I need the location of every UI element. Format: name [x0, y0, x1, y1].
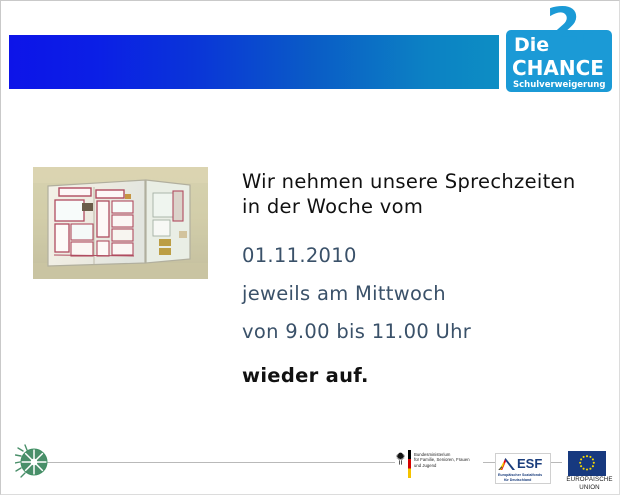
spacer	[242, 219, 612, 237]
esf-acronym: ESF	[517, 456, 542, 471]
notice-board-photo-graphic	[33, 167, 208, 279]
spacer	[242, 351, 612, 363]
brand-logo-word-chance: CHANCE	[512, 58, 604, 78]
eu-flag	[568, 451, 606, 476]
green-sun-logo	[15, 444, 51, 480]
brand-logo-subtitle: Schulverweigerung	[513, 81, 605, 90]
time-line: von 9.00 bis 11.00 Uhr	[242, 313, 612, 351]
presentation-slide: 2. Die CHANCE Schulverweigerung	[0, 0, 620, 495]
ministry-name-text: Bundesministerium für Familie, Senioren,…	[414, 452, 470, 468]
headline-line-1: Wir nehmen unsere Sprechzeiten	[242, 169, 612, 194]
green-sun-logo-graphic	[15, 444, 51, 480]
eu-flag-stars-icon	[568, 451, 606, 476]
date-line: 01.11.2010	[242, 237, 612, 275]
slide-text-block: Wir nehmen unsere Sprechzeiten in der Wo…	[242, 169, 612, 389]
brand-logo-die-zweite-chance: 2. Die CHANCE Schulverweigerung	[499, 13, 615, 97]
ministry-name-line-3: und Jugend	[414, 463, 470, 468]
weekday-line: jeweils am Mittwoch	[242, 275, 612, 313]
german-flag-bar	[408, 450, 411, 478]
headline-line-2: in der Woche vom	[242, 194, 612, 219]
federal-eagle-icon	[395, 452, 406, 465]
esf-arrow-icon	[498, 457, 516, 472]
footer-divider-line-segment-2	[483, 462, 495, 463]
esf-logo: ESF Europäischer Sozialfonds für Deutsch…	[495, 453, 551, 484]
header-gradient-bar	[9, 35, 499, 89]
eu-caption-text: EUROPÄISCHE UNION	[562, 476, 617, 492]
esf-subtitle-line-1: Europäischer Sozialfonds	[498, 473, 542, 477]
brand-logo-numeral: 2.	[546, 1, 596, 51]
brand-logo-word-die: Die	[514, 36, 549, 55]
esf-subtitle-line-2: für Deutschland	[504, 478, 531, 482]
european-union-logo: EUROPÄISCHE UNION	[562, 451, 617, 485]
footer-divider-line	[45, 462, 395, 463]
notice-board-photo	[33, 167, 208, 279]
bmfsfj-ministry-logo: Bundesministerium für Familie, Senioren,…	[395, 450, 481, 480]
closing-line: wieder auf.	[242, 363, 612, 389]
